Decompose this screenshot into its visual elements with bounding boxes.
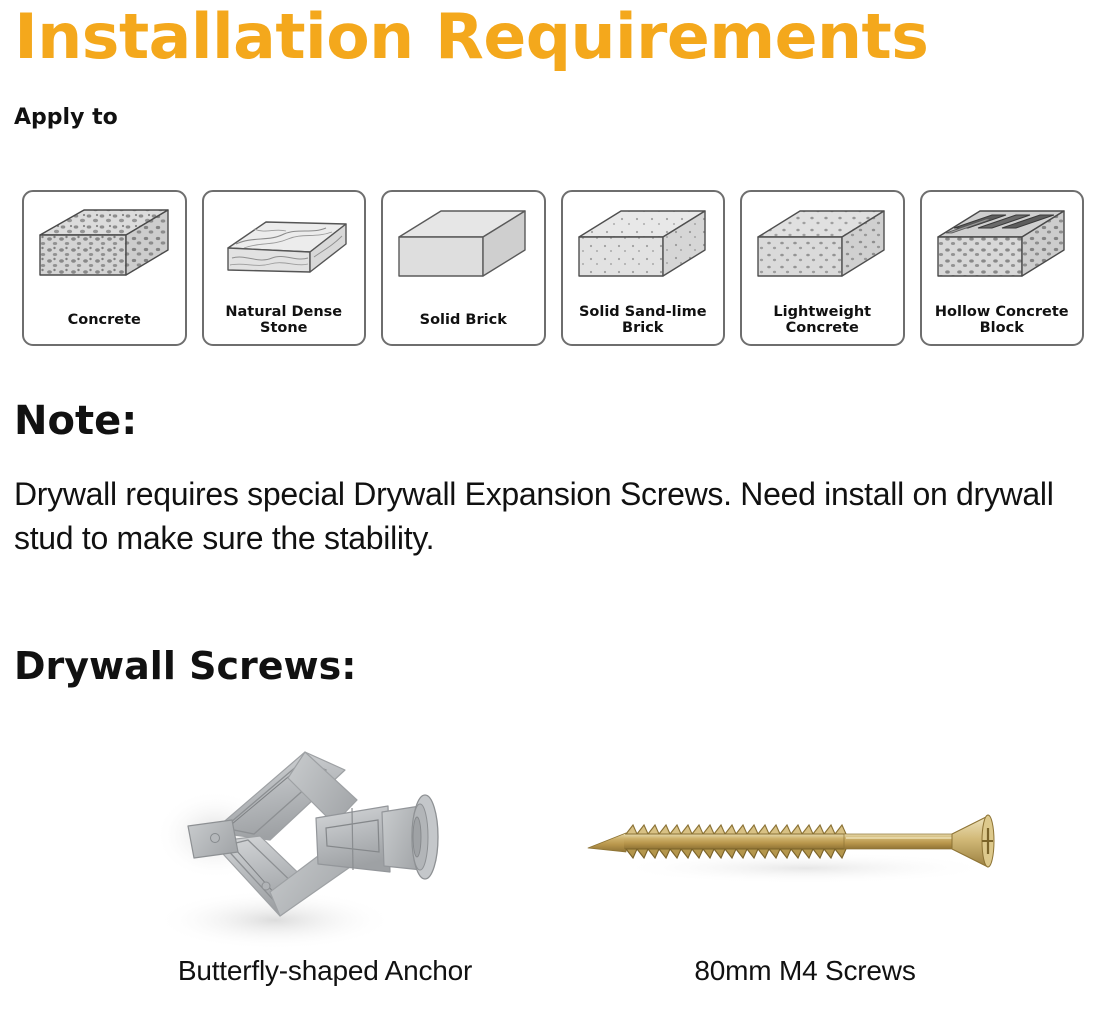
material-card-solid-brick: Solid Brick xyxy=(381,190,546,346)
lightweight-concrete-icon xyxy=(752,202,892,294)
product-butterfly-anchor: Butterfly-shaped Anchor xyxy=(120,740,530,1014)
product-caption: 80mm M4 Screws xyxy=(694,955,915,987)
apply-to-label: Apply to xyxy=(0,69,1100,130)
material-label: Natural Dense Stone xyxy=(204,304,365,336)
natural-stone-icon xyxy=(214,202,354,294)
material-label: Concrete xyxy=(24,312,185,328)
concrete-block-icon xyxy=(34,202,174,294)
sand-lime-brick-icon xyxy=(573,202,713,294)
product-80mm-m4-screw: 80mm M4 Screws xyxy=(570,740,1040,1014)
material-card-concrete: Concrete xyxy=(22,190,187,346)
material-card-lightweight-concrete: Lightweight Concrete xyxy=(740,190,905,346)
product-caption: Butterfly-shaped Anchor xyxy=(178,955,472,987)
material-label: Solid Sand-lime Brick xyxy=(563,304,724,336)
material-label: Hollow Concrete Block xyxy=(922,304,1083,336)
material-label: Lightweight Concrete xyxy=(742,304,903,336)
wood-screw-photo xyxy=(570,740,1040,955)
material-card-solid-sand-lime-brick: Solid Sand-lime Brick xyxy=(561,190,726,346)
drywall-screws-heading: Drywall Screws: xyxy=(14,644,356,688)
page-title: Installation Requirements xyxy=(0,0,1100,69)
material-card-hollow-concrete-block: Hollow Concrete Block xyxy=(920,190,1085,346)
material-label: Solid Brick xyxy=(383,312,544,328)
material-card-natural-dense-stone: Natural Dense Stone xyxy=(202,190,367,346)
applicable-materials-row: Concrete Natural Dense Stone xyxy=(22,190,1084,346)
note-body: Drywall requires special Drywall Expansi… xyxy=(14,472,1079,560)
solid-brick-icon xyxy=(393,202,533,294)
butterfly-anchor-photo xyxy=(120,740,530,955)
hollow-concrete-block-icon xyxy=(932,202,1072,294)
drywall-screws-products: Butterfly-shaped Anchor xyxy=(0,740,1100,1014)
note-heading: Note: xyxy=(14,398,137,444)
